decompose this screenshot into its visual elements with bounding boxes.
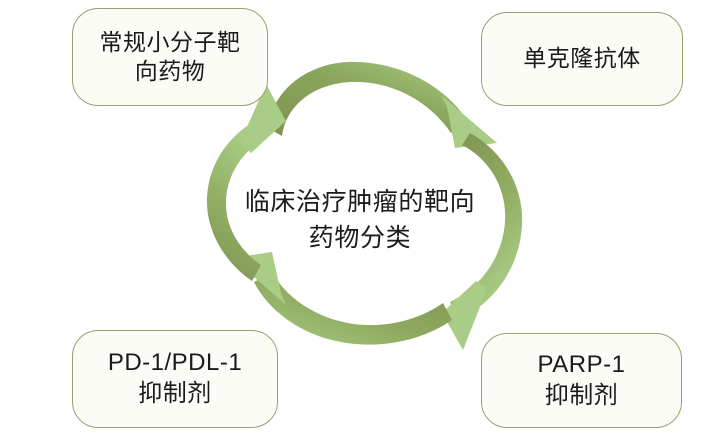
center-title: 临床治疗肿瘤的靶向 药物分类 — [210, 185, 510, 256]
node-box-top-right[interactable]: 单克隆抗体 — [481, 12, 683, 106]
node-label-top-right: 单克隆抗体 — [515, 44, 649, 73]
node-box-bottom-left[interactable]: PD-1/PDL-1 抑制剂 — [72, 330, 278, 428]
arrow-bottom — [232, 252, 452, 345]
node-label-bottom-left: PD-1/PDL-1 抑制剂 — [100, 348, 250, 409]
node-box-top-left[interactable]: 常规小分子靶 向药物 — [72, 8, 268, 106]
diagram-canvas: 临床治疗肿瘤的靶向 药物分类 常规小分子靶 向药物 单克隆抗体 PARP-1 抑… — [0, 0, 720, 441]
arrow-top — [268, 62, 497, 148]
node-label-top-left: 常规小分子靶 向药物 — [92, 28, 249, 87]
node-box-bottom-right[interactable]: PARP-1 抑制剂 — [481, 333, 682, 428]
node-label-bottom-right: PARP-1 抑制剂 — [530, 350, 634, 411]
